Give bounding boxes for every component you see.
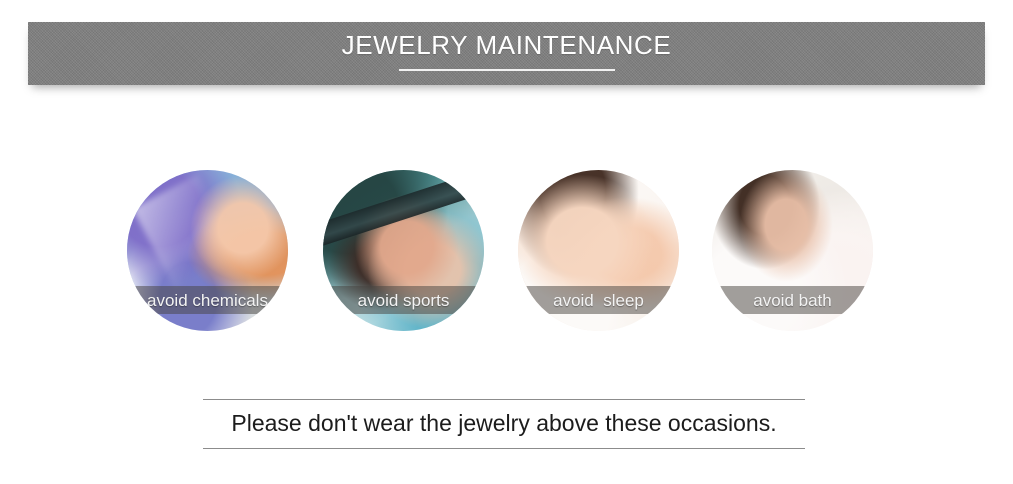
- title-underline-divider: [399, 69, 615, 71]
- page-title: JEWELRY MAINTENANCE: [342, 31, 672, 60]
- avoid-card-sports-label-band: avoid sports: [323, 286, 484, 314]
- avoid-card-sports: avoid sports: [323, 170, 484, 331]
- avoid-card-bath: avoid bath: [712, 170, 873, 331]
- page-header-banner: JEWELRY MAINTENANCE: [28, 22, 985, 85]
- avoid-card-chemicals-label: avoid chemicals: [147, 292, 268, 309]
- avoid-card-sleep-label-band: avoid sleep: [518, 286, 679, 314]
- avoid-card-sports-label: avoid sports: [358, 292, 450, 309]
- avoid-card-bath-label-band: avoid bath: [712, 286, 873, 314]
- avoid-card-chemicals: avoid chemicals: [127, 170, 288, 331]
- avoid-cards-row: avoid chemicals avoid sports avoid sleep…: [0, 170, 1013, 335]
- avoid-card-sleep-label: avoid sleep: [553, 292, 644, 309]
- avoid-card-chemicals-label-band: avoid chemicals: [127, 286, 288, 314]
- avoid-card-bath-label: avoid bath: [753, 292, 831, 309]
- footer-note-block: Please don't wear the jewelry above thes…: [203, 399, 805, 449]
- footer-note-text: Please don't wear the jewelry above thes…: [231, 411, 776, 436]
- avoid-card-sleep: avoid sleep: [518, 170, 679, 331]
